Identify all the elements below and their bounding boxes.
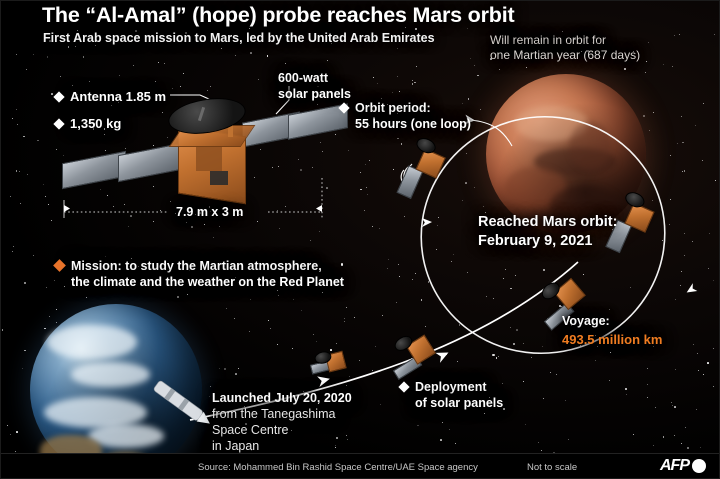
callout-voyage: Voyage: 493.5 million km	[562, 313, 662, 349]
callout-launch-line4: in Japan	[212, 438, 352, 454]
diamond-bullet-icon	[398, 381, 409, 392]
callout-orbit-period-line2: 55 hours (one loop)	[340, 116, 471, 132]
source-credit: Source: Mohammed Bin Rashid Space Centre…	[198, 462, 478, 473]
callout-deployment-line2: of solar panels	[400, 395, 503, 411]
callout-deployment: Deployment of solar panels	[400, 379, 503, 411]
callout-orbit-period: Orbit period: 55 hours (one loop)	[340, 100, 471, 132]
callout-mass-label: 1,350 kg	[70, 116, 121, 131]
diamond-bullet-icon	[53, 118, 64, 129]
diamond-bullet-icon	[338, 102, 349, 113]
afp-logo-text: AFP	[660, 457, 689, 475]
callout-antenna-label: Antenna 1.85 m	[70, 89, 166, 104]
earth-planet	[30, 304, 202, 476]
callout-antenna: Antenna 1.85 m	[55, 89, 166, 106]
infographic-canvas: Antenna 1.85 m 1,350 kg 600-watt solar p…	[0, 0, 720, 479]
callout-orbit-period-line1: Orbit period:	[355, 101, 431, 115]
page-title: The “Al-Amal” (hope) probe reaches Mars …	[42, 3, 662, 28]
callout-mass: 1,350 kg	[55, 116, 121, 133]
page-subtitle: First Arab space mission to Mars, led by…	[43, 31, 603, 45]
afp-logo: AFP	[660, 457, 706, 475]
callout-voyage-label: Voyage:	[562, 313, 662, 329]
callout-mission-line1: Mission: to study the Martian atmosphere…	[71, 259, 322, 273]
callout-orbit-duration-line2: one Martian year (687 days)	[490, 48, 640, 63]
scale-note: Not to scale	[527, 462, 577, 473]
callout-solar-panels: 600-watt solar panels	[278, 70, 351, 102]
callout-launch-line3: Space Centre	[212, 422, 352, 438]
callout-solar-panels-line1: 600-watt	[278, 70, 351, 86]
callout-reached-line1: Reached Mars orbit:	[478, 213, 617, 232]
callout-voyage-value: 493.5 million km	[562, 332, 662, 349]
callout-reached-line2: February 9, 2021	[478, 232, 617, 251]
callout-dimensions: 7.9 m x 3 m	[176, 204, 243, 220]
callout-launch-line2: from the Tanegashima	[212, 406, 352, 422]
callout-launch-line1: Launched July 20, 2020	[212, 390, 352, 406]
hope-probe-main-illustration	[60, 95, 340, 220]
callout-reached-mars: Reached Mars orbit: February 9, 2021	[478, 213, 617, 250]
diamond-bullet-orange-icon	[53, 259, 66, 272]
callout-mission: Mission: to study the Martian atmosphere…	[55, 258, 344, 290]
callout-mission-line2: the climate and the weather on the Red P…	[55, 274, 344, 290]
callout-deployment-line1: Deployment	[415, 380, 487, 394]
afp-logo-dot-icon	[692, 459, 706, 473]
diamond-bullet-icon	[53, 91, 64, 102]
callout-launch: Launched July 20, 2020 from the Tanegash…	[212, 390, 352, 454]
